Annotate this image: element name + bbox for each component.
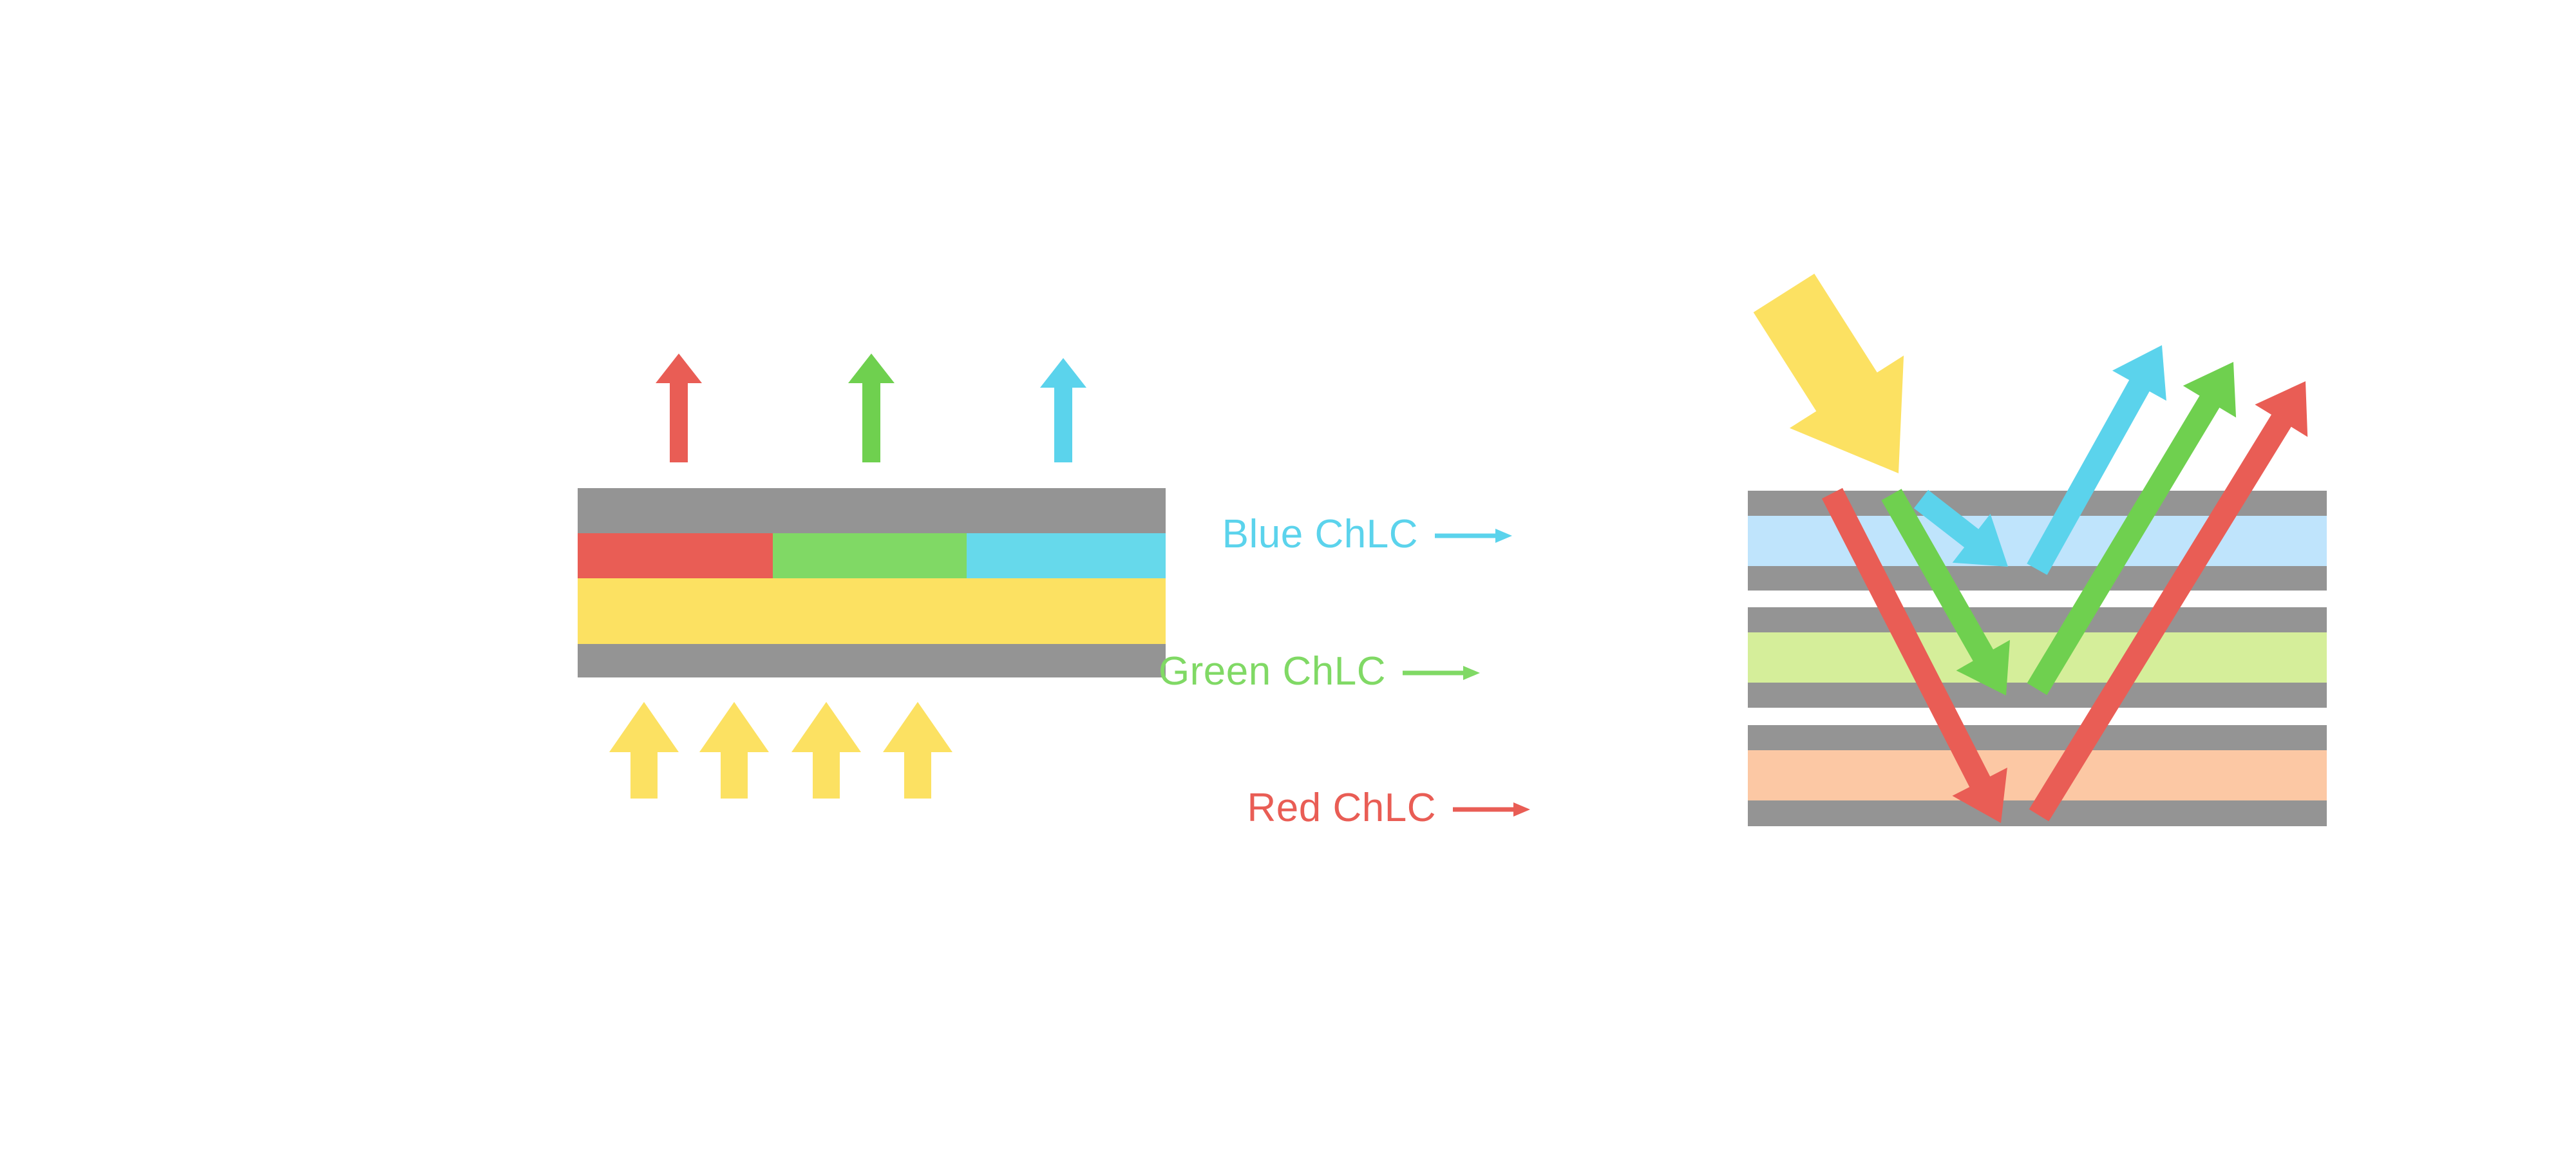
red-chlc-layer: [1748, 750, 2327, 800]
emissive-panel-group: [578, 354, 1166, 799]
red-emitted-ray-head: [656, 354, 702, 383]
red-label-pointer-icon: [1453, 802, 1530, 817]
green-label-pointer-icon: [1403, 666, 1480, 680]
backlight-layer: [578, 578, 1166, 644]
ambient-light-ray: [1754, 274, 1904, 473]
top-substrate: [578, 488, 1166, 533]
backlight-ray: [609, 702, 679, 799]
green-filter: [773, 533, 967, 578]
red-filter: [578, 533, 773, 578]
emissive-stack: [578, 488, 1166, 677]
red-emitted-ray: [656, 354, 702, 462]
bottom-substrate: [578, 644, 1166, 677]
diagram-canvas: Blue ChLC Green ChLC Red ChLC: [0, 0, 2576, 1154]
gap-1: [1748, 591, 2327, 607]
blue-filter: [967, 533, 1166, 578]
backlight-ray: [791, 702, 861, 799]
red-chlc-label: Red ChLC: [1247, 786, 1436, 830]
chlc-stack: [1748, 491, 2327, 826]
blue-emitted-ray: [1040, 358, 1086, 462]
chlc-labels-group: Blue ChLC Green ChLC Red ChLC: [1159, 512, 1530, 830]
red-top-electrode: [1748, 725, 2327, 750]
backlight-ray: [699, 702, 769, 799]
blue-chlc-label: Blue ChLC: [1222, 512, 1418, 556]
blue-emitted-ray-head: [1040, 358, 1086, 388]
green-emitted-ray-shaft: [862, 381, 880, 462]
red-chlc-label-group: Red ChLC: [1247, 786, 1530, 830]
green-top-electrode: [1748, 607, 2327, 632]
blue-chlc-label-group: Blue ChLC: [1222, 512, 1512, 556]
backlight-arrows-group: [609, 702, 952, 799]
backlight-ray: [883, 702, 952, 799]
green-chlc-label: Green ChLC: [1159, 649, 1386, 694]
green-emitted-ray: [848, 354, 895, 462]
gap-2: [1748, 708, 2327, 725]
emitted-arrows-group: [656, 354, 1086, 462]
blue-bottom-electrode: [1748, 566, 2327, 591]
blue-label-pointer-icon: [1435, 529, 1512, 543]
green-emitted-ray-head: [848, 354, 895, 383]
blue-emitted-ray-shaft: [1054, 385, 1072, 462]
green-chlc-label-group: Green ChLC: [1159, 649, 1480, 694]
red-emitted-ray-shaft: [670, 381, 688, 462]
chlc-panel-group: Blue ChLC Green ChLC Red ChLC: [1159, 274, 2327, 830]
chlc-diagram: Blue ChLC Green ChLC Red ChLC: [0, 0, 2576, 1154]
